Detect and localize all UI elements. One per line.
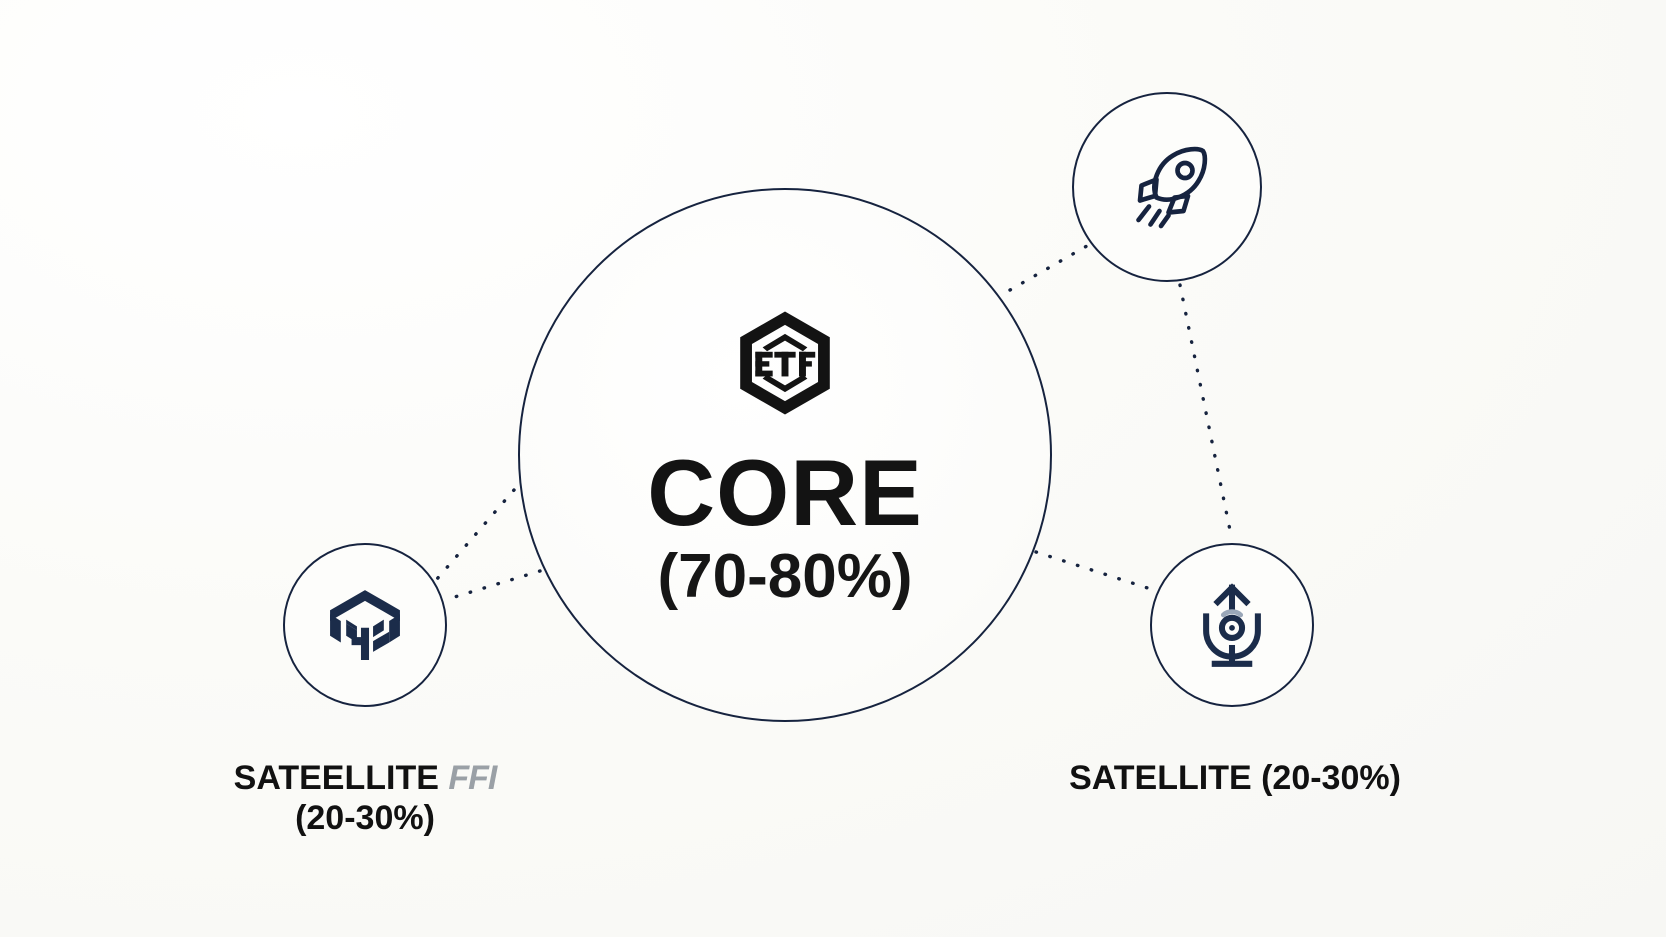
- core-node[interactable]: CORE (70-80%): [518, 188, 1052, 722]
- satellite-left-label-text: SATEELLITE: [234, 759, 439, 797]
- satellite-left-label: SATEELLITE FFI (20-30%): [190, 758, 540, 838]
- diagram-canvas: CORE (70-80%): [0, 0, 1666, 937]
- core-content: CORE (70-80%): [647, 307, 923, 610]
- satellite-right-label-text: SATELLITE (20-30%): [1069, 759, 1401, 797]
- connector-core-satellite-right: [1036, 552, 1160, 592]
- etf-hexagon-icon: [729, 307, 841, 419]
- satellite-right-label: SATELLITE (20-30%): [1000, 758, 1470, 798]
- cube-hexagon-icon: [322, 582, 408, 668]
- connector-core-satellite-left-b: [448, 571, 540, 599]
- connector-rocket-satellite-right: [1180, 285, 1232, 540]
- connector-core-satellite-left: [424, 490, 514, 594]
- connector-core-rocket: [1010, 243, 1092, 290]
- satellite-right-node[interactable]: [1150, 543, 1314, 707]
- satellite-left-node[interactable]: [283, 543, 447, 707]
- satellite-dish-icon: [1186, 579, 1278, 671]
- rocket-node[interactable]: [1072, 92, 1262, 282]
- core-allocation: (70-80%): [658, 544, 913, 609]
- satellite-left-ghost-text: FFI: [448, 759, 496, 797]
- rocket-icon: [1119, 139, 1215, 235]
- core-title: CORE: [647, 445, 923, 541]
- satellite-left-allocation: (20-30%): [190, 798, 540, 838]
